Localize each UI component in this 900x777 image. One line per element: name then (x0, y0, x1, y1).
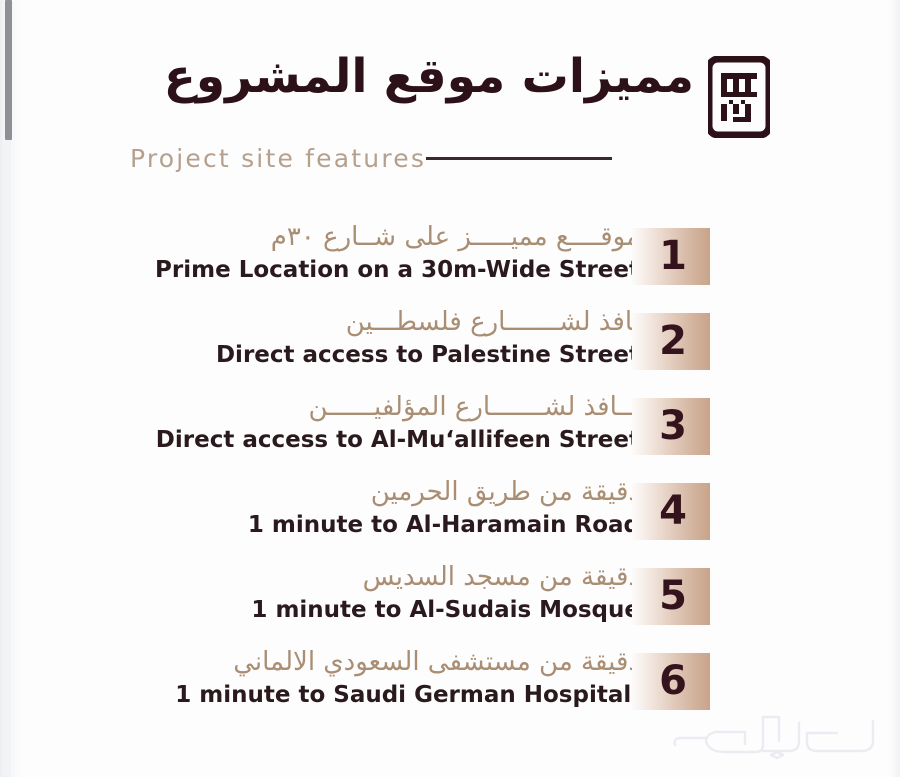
feature-english-text: Direct access to Palestine Street (216, 342, 640, 368)
feature-number: 1 (659, 236, 687, 276)
feature-number: 6 (659, 661, 687, 701)
feature-text: نافذ لشـــــــارع فلسطـــين Direct acces… (0, 301, 640, 370)
page-canvas: مميزات موقع المشروع Project site feature… (0, 0, 900, 777)
feature-english-text: minute to Al-Haramain Road (264, 512, 640, 538)
feature-english-text: minute to Saudi German Hospital. (191, 682, 640, 708)
feature-english-label: 1 minute to Saudi German Hospital. (0, 680, 640, 710)
feature-number-badge: 5 (632, 568, 710, 625)
feature-number: 5 (659, 576, 687, 616)
feature-number-badge: 3 (632, 398, 710, 455)
feature-number-badge: 4 (632, 483, 710, 540)
kufic-square-logo-icon (708, 56, 770, 138)
feature-lead-number: 1 (175, 682, 191, 708)
feature-arabic-label: دقيقة من طريق الحرمين (0, 471, 640, 510)
feature-text: دقيقة من مسجد السديس 1 minute to Al-Suda… (0, 556, 640, 625)
feature-number: 4 (659, 491, 687, 531)
feature-english-label: 1 minute to Al-Haramain Road (0, 510, 640, 540)
header-divider (426, 157, 612, 160)
feature-english-text: minute to Al-Sudais Mosque (267, 597, 640, 623)
feature-arabic-label: دقيقة من مستشفى السعودي الالماني (0, 641, 640, 680)
feature-number-badge: 2 (632, 313, 710, 370)
feature-number: 2 (659, 321, 687, 361)
feature-text: دقيقة من مستشفى السعودي الالماني 1 minut… (0, 641, 640, 710)
feature-row: موقــــع مميـــــز على شــارع ٣٠م Prime … (0, 216, 900, 301)
feature-arabic-label: دقيقة من مسجد السديس (0, 556, 640, 595)
feature-english-label: Direct access to Palestine Street (0, 340, 640, 370)
page-subtitle: Project site features (130, 144, 426, 173)
feature-row: نــافذ لشـــــــارع المؤلفيــــــن Direc… (0, 386, 900, 471)
feature-row: دقيقة من مستشفى السعودي الالماني 1 minut… (0, 641, 900, 726)
feature-lead-number: 1 (251, 597, 267, 623)
feature-arabic-label: نــافذ لشـــــــارع المؤلفيــــــن (0, 386, 640, 425)
subtitle-row: Project site features (130, 144, 770, 173)
feature-english-label: Prime Location on a 30m-Wide Street (0, 255, 640, 285)
feature-arabic-label: موقــــع مميـــــز على شــارع ٣٠م (0, 216, 640, 255)
feature-english-text: Prime Location on a 30m-Wide Street (155, 257, 640, 283)
feature-text: نــافذ لشـــــــارع المؤلفيــــــن Direc… (0, 386, 640, 455)
feature-number: 3 (659, 406, 687, 446)
feature-english-text: Direct access to Al-Mu‘allifeen Street (156, 427, 640, 453)
page-title: مميزات موقع المشروع (164, 52, 694, 103)
feature-number-badge: 6 (632, 653, 710, 710)
title-row: مميزات موقع المشروع (130, 52, 770, 138)
feature-row: نافذ لشـــــــارع فلسطـــين Direct acces… (0, 301, 900, 386)
feature-list: موقــــع مميـــــز على شــارع ٣٠م Prime … (0, 216, 900, 726)
feature-english-label: Direct access to Al-Mu‘allifeen Street (0, 425, 640, 455)
feature-row: دقيقة من مسجد السديس 1 minute to Al-Suda… (0, 556, 900, 641)
header: مميزات موقع المشروع Project site feature… (0, 52, 900, 172)
feature-lead-number: 1 (248, 512, 264, 538)
feature-text: موقــــع مميـــــز على شــارع ٣٠م Prime … (0, 216, 640, 285)
feature-english-label: 1 minute to Al-Sudais Mosque (0, 595, 640, 625)
feature-number-badge: 1 (632, 228, 710, 285)
feature-row: دقيقة من طريق الحرمين 1 minute to Al-Har… (0, 471, 900, 556)
feature-text: دقيقة من طريق الحرمين 1 minute to Al-Har… (0, 471, 640, 540)
feature-arabic-label: نافذ لشـــــــارع فلسطـــين (0, 301, 640, 340)
